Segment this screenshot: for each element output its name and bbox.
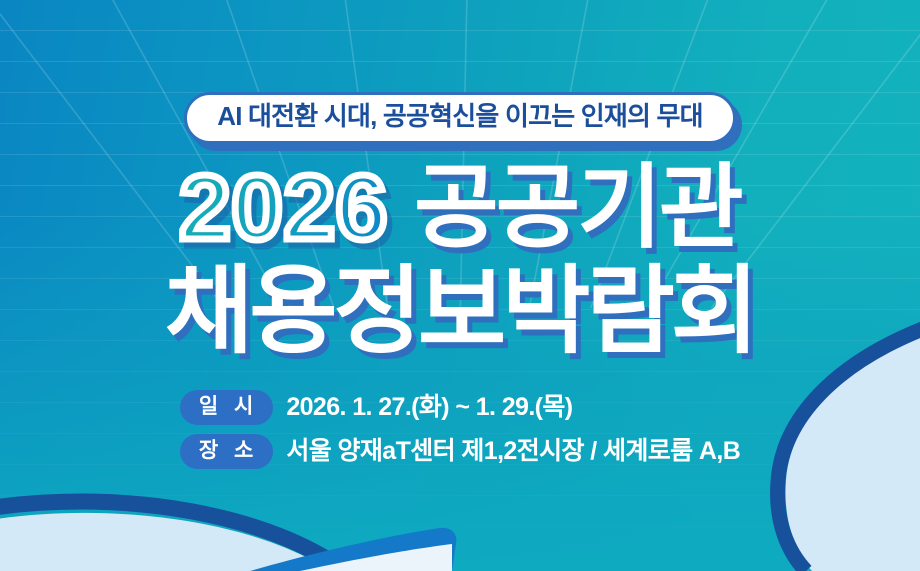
event-poster: AI 대전환 시대, 공공혁신을 이끄는 인재의 무대 2026 공공기관 채용… [0, 0, 920, 571]
info-badge-venue: 장 소 [180, 434, 273, 469]
info-row-venue: 장 소 서울 양재aT센터 제1,2전시장 / 세계로룸 A,B [180, 434, 740, 469]
headline-line-2: 채용정보박람회 [165, 264, 755, 360]
headline-organization: 공공기관 [414, 162, 741, 254]
headline-line-1: 2026 공공기관 [179, 162, 740, 254]
info-value-date: 2026. 1. 27.(화) ~ 1. 29.(목) [286, 393, 572, 422]
info-badge-date: 일 시 [180, 390, 273, 425]
tagline-text: AI 대전환 시대, 공공혁신을 이끄는 인재의 무대 [184, 92, 736, 144]
headline-year: 2026 [179, 162, 388, 254]
info-row-date: 일 시 2026. 1. 27.(화) ~ 1. 29.(목) [180, 390, 573, 425]
poster-content: AI 대전환 시대, 공공혁신을 이끄는 인재의 무대 2026 공공기관 채용… [0, 0, 920, 571]
info-value-venue: 서울 양재aT센터 제1,2전시장 / 세계로룸 A,B [286, 437, 740, 466]
tagline-pill: AI 대전환 시대, 공공혁신을 이끄는 인재의 무대 [184, 92, 736, 144]
event-info-block: 일 시 2026. 1. 27.(화) ~ 1. 29.(목) 장 소 서울 양… [180, 390, 740, 469]
